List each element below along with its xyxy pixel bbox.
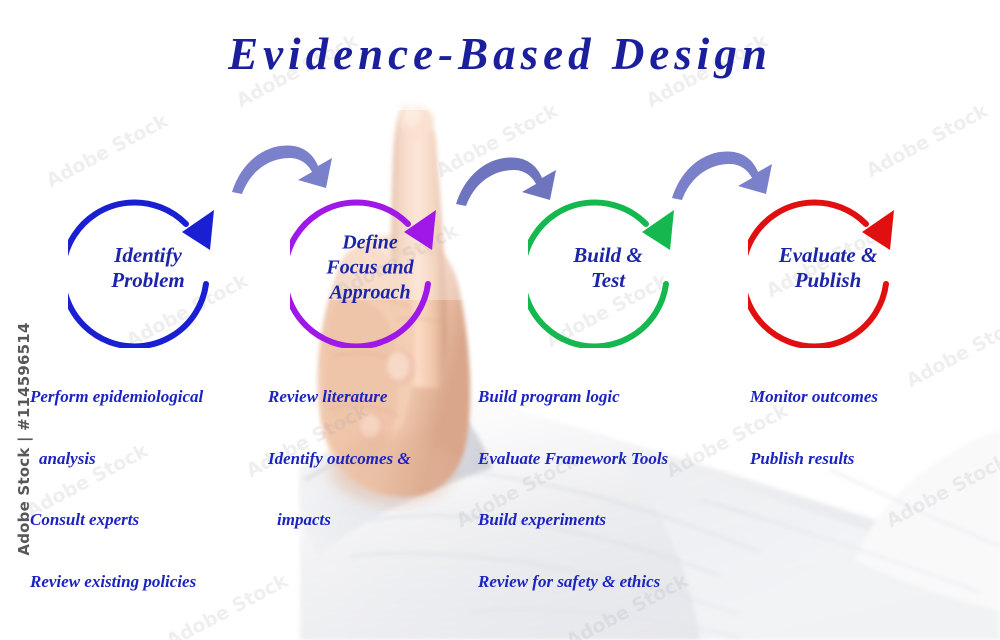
stage-label-line: Define <box>342 232 398 254</box>
bullet-item: Review literature <box>268 387 473 408</box>
page-title: Evidence-Based Design <box>0 28 1000 80</box>
stage-label-line: Test <box>591 268 625 292</box>
arrow-1-to-2-icon <box>228 136 348 196</box>
bullet-list-define-focus-and-approach: Review literature Identify outcomes & im… <box>268 346 473 572</box>
bullet-item: Build experiments <box>478 510 728 531</box>
watermark-tile: Adobe Stock <box>43 110 172 192</box>
stage-label-line: Focus and <box>326 257 413 279</box>
stage-label-line: Identify <box>114 243 182 267</box>
bullet-item: analysis <box>30 449 265 470</box>
watermark-tile: Adobe Stock <box>863 100 992 182</box>
diagram-canvas: Adobe Stock Adobe Stock Adobe Stock Adob… <box>0 0 1000 640</box>
stage-label-identify-problem: Identify Problem <box>62 243 234 293</box>
bullet-item: Identify outcomes & <box>268 449 473 470</box>
stage-label-define-focus-and-approach: Define Focus and Approach <box>284 231 456 306</box>
bullet-item: Monitor outcomes <box>750 387 960 408</box>
watermark-tile: Adobe Stock <box>433 100 562 182</box>
bullet-item: Consult experts <box>30 510 265 531</box>
bullet-item: Evaluate Framework Tools <box>478 449 728 470</box>
stage-label-line: Build & <box>573 243 642 267</box>
bullet-list-evaluate-and-publish: Monitor outcomes Publish results <box>750 346 960 510</box>
bullet-item: Publish results <box>750 449 960 470</box>
stage-label-evaluate-and-publish: Evaluate & Publish <box>742 243 914 293</box>
stage-label-line: Problem <box>111 268 185 292</box>
stage-circle-define-focus-and-approach[interactable]: Define Focus and Approach <box>290 188 450 348</box>
bullet-list-build-and-test: Build program logic Evaluate Framework T… <box>478 346 728 633</box>
stage-label-line: Publish <box>795 268 862 292</box>
stage-circle-evaluate-and-publish[interactable]: Evaluate & Publish <box>748 188 908 348</box>
stage-label-line: Approach <box>329 282 410 304</box>
bullet-item: Perform epidemiological <box>30 387 265 408</box>
bullet-item: Build program logic <box>478 387 728 408</box>
stage-circle-build-and-test[interactable]: Build & Test <box>528 188 688 348</box>
bullet-list-identify-problem: Perform epidemiological analysis Consult… <box>30 346 265 633</box>
bullet-item: Review for safety & ethics <box>478 572 728 593</box>
watermark-adobe-stock-id: Adobe Stock | #114596514 <box>15 319 33 559</box>
bullet-item: Review existing policies <box>30 572 265 593</box>
stage-label-line: Evaluate & <box>779 243 878 267</box>
stage-circle-identify-problem[interactable]: Identify Problem <box>68 188 228 348</box>
bullet-item: impacts <box>268 510 473 531</box>
stage-label-build-and-test: Build & Test <box>522 243 694 293</box>
